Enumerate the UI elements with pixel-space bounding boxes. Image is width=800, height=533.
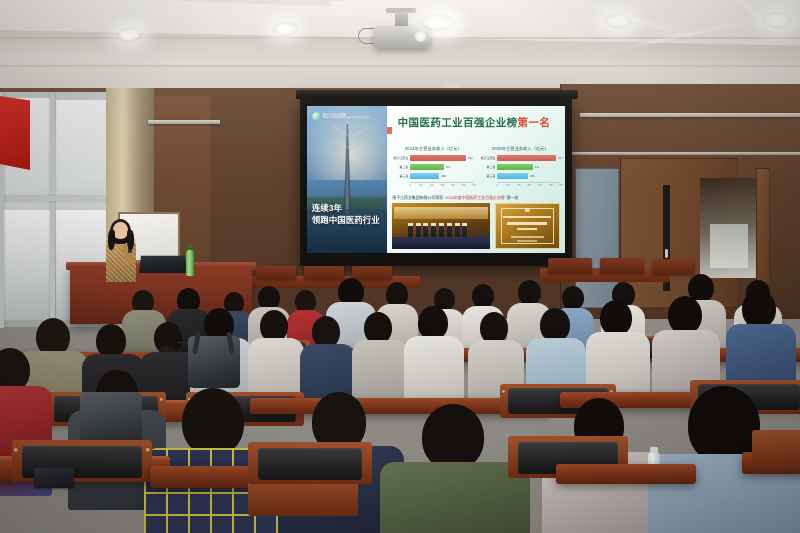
bar-fill	[410, 155, 466, 162]
bar-label: 第二名	[392, 165, 410, 169]
chart-2015-title: 2015年主营业务收入（亿元）	[479, 146, 561, 152]
slide-title: 中国医药工业百强企业榜第一名	[398, 115, 551, 130]
projector-lamp-glow	[420, 14, 454, 31]
axis-tick: 500	[462, 184, 466, 187]
door-handle[interactable]	[665, 249, 668, 258]
plaque-text-line	[517, 228, 537, 230]
lecture-hall-photo: 扬子江药业集团 YANGTZE RIVER PHARMACEUTICAL GRO…	[0, 0, 800, 533]
logo-mark-icon	[312, 112, 321, 121]
front-chair	[548, 258, 592, 274]
head	[96, 324, 126, 358]
bar-track: 310	[410, 164, 474, 171]
ceremony-person	[408, 223, 413, 237]
slide-title-main: 中国医药工业百强企业榜	[398, 117, 518, 129]
ceremony-person	[455, 223, 460, 237]
bar-value: 577	[556, 155, 563, 162]
slide-right-content-panel: 中国医药工业百强企业榜第一名 2014年主营业务收入（亿元） 扬子江药业 522	[387, 106, 565, 253]
slide-title-highlight: 第一名	[518, 117, 551, 129]
bar-track: 331	[497, 164, 561, 171]
wall-trim	[560, 152, 800, 155]
chart-2015-axis: 0 100 200 300 400 500 600	[497, 182, 561, 188]
bar-value: 268	[439, 173, 446, 180]
logo-text: 扬子江药业集团 YANGTZE RIVER PHARMACEUTICAL GRO…	[323, 113, 370, 119]
bar-label: 扬子江药业	[392, 156, 410, 160]
red-flag	[0, 96, 30, 170]
slide-award-banner: 扬子江药业集团有限公司荣获 “2016年度中国医药工业百强企业榜” 第一名	[392, 195, 559, 201]
rail-hook	[676, 119, 678, 126]
window-mullion	[50, 92, 55, 328]
slide-photo-strip	[392, 203, 559, 249]
axis-tick: 200	[430, 184, 434, 187]
front-chair	[304, 266, 344, 280]
chart-2014-body: 扬子江药业 522 第二名 310	[392, 155, 474, 188]
banner-quoted: “2016年度中国医药工业百强企业榜”	[444, 195, 506, 200]
caption-line-1: 连续3年	[312, 202, 380, 214]
slide-accent-mark	[387, 127, 392, 134]
bar-label: 扬子江药业	[479, 156, 497, 160]
front-chair	[352, 266, 392, 280]
bar-fill	[410, 173, 439, 180]
door-window-opening	[700, 178, 756, 278]
chart-2014-title: 2014年主营业务收入（亿元）	[392, 146, 474, 152]
tablet-device[interactable]	[34, 468, 74, 488]
chart-2015-body: 扬子江药业 577 第二名 331	[479, 155, 561, 188]
bar-value: 331	[533, 164, 540, 171]
ceremony-person	[431, 223, 436, 237]
seat-rivet	[146, 448, 150, 452]
axis-tick: 0	[497, 184, 498, 187]
presentation-slide: 扬子江药业集团 YANGTZE RIVER PHARMACEUTICAL GRO…	[307, 106, 565, 253]
curtain-rail	[580, 113, 800, 117]
chart-2014-axis: 0 100 200 300 400 500 600	[410, 182, 474, 188]
axis-tick: 100	[419, 184, 423, 187]
torso	[248, 338, 304, 400]
ceremony-stage-floor	[392, 237, 489, 249]
ceiling-projector	[374, 26, 430, 48]
rail-hook	[752, 121, 754, 128]
plaque-border	[501, 208, 554, 245]
window-pane	[4, 210, 50, 320]
seat-rivet	[160, 398, 163, 401]
window-pane	[56, 100, 106, 194]
axis-tick: 0	[410, 184, 411, 187]
caption-line-2: 领跑中国医药行业	[312, 214, 380, 226]
bar-row: 第二名 331	[479, 164, 561, 171]
front-chair	[256, 266, 296, 280]
axis-tick: 200	[517, 184, 521, 187]
bar-label: 第三名	[479, 174, 497, 178]
presenter-hair-side	[108, 230, 115, 250]
bar-row: 第二名 310	[392, 164, 474, 171]
ceremony-person	[423, 223, 428, 237]
bar-fill	[497, 173, 528, 180]
axis-tick: 300	[527, 184, 531, 187]
torso	[352, 340, 408, 402]
window-mullion	[0, 196, 112, 201]
slide-charts-container: 2014年主营业务收入（亿元） 扬子江药业 522 第二名	[392, 146, 561, 188]
bar-value: 286	[528, 173, 535, 180]
bar-track: 522	[410, 155, 474, 162]
rail-hook	[714, 120, 716, 127]
head	[182, 388, 244, 456]
bar-track: 577	[497, 155, 561, 162]
award-ceremony-photo	[392, 203, 489, 249]
bar-fill	[410, 164, 443, 171]
seat-rivet	[14, 448, 18, 452]
plaque-text-line	[503, 216, 551, 218]
bar-row: 扬子江药业 522	[392, 155, 474, 162]
plaque-text-line	[507, 222, 547, 225]
ceremony-person	[416, 223, 421, 237]
torso	[404, 336, 464, 402]
bar-value: 310	[444, 164, 451, 171]
banner-prefix: 扬子江药业集团有限公司荣获	[392, 195, 443, 200]
bar-value: 522	[466, 155, 473, 162]
rail-hook	[640, 118, 642, 125]
bar-row: 扬子江药业 577	[479, 155, 561, 162]
desk-row-near	[556, 464, 696, 484]
chart-2015: 2015年主营业务收入（亿元） 扬子江药业 577 第二名	[479, 146, 561, 188]
award-plaque-photo	[495, 203, 560, 249]
ceiling-edge-line	[0, 65, 800, 67]
presenter-head	[113, 222, 128, 239]
axis-tick: 100	[506, 184, 510, 187]
head	[422, 404, 484, 470]
axis-tick: 600	[559, 184, 563, 187]
projection-screen: 扬子江药业集团 YANGTZE RIVER PHARMACEUTICAL GRO…	[300, 98, 572, 266]
seat-rivet	[502, 390, 505, 393]
seat-back	[258, 448, 362, 480]
front-chair	[652, 259, 694, 275]
plaque-text-line	[511, 236, 544, 238]
banner-suffix: 第一名	[507, 195, 519, 200]
bar-track: 268	[410, 173, 474, 180]
bar-label: 第三名	[392, 174, 410, 178]
rail-hook	[604, 117, 606, 124]
slide-left-photo-panel: 扬子江药业集团 YANGTZE RIVER PHARMACEUTICAL GRO…	[307, 106, 387, 253]
ceiling-downlight	[272, 22, 298, 36]
presenter	[104, 222, 138, 280]
slide-left-caption: 连续3年 领跑中国医药行业	[312, 202, 380, 227]
bar-row: 第三名 286	[479, 173, 561, 180]
seat-frame	[752, 430, 800, 470]
ceremony-person	[447, 223, 452, 237]
presenter-hair-side	[127, 230, 134, 250]
bar-track: 286	[497, 173, 561, 180]
axis-tick: 600	[472, 184, 476, 187]
ceiling-downlight	[116, 28, 142, 42]
green-bottle	[186, 250, 194, 276]
ceremony-backdrop	[394, 207, 488, 219]
axis-tick: 300	[440, 184, 444, 187]
plaque-text-line	[517, 240, 537, 242]
axis-tick: 500	[549, 184, 553, 187]
slide-company-logo: 扬子江药业集团 YANGTZE RIVER PHARMACEUTICAL GRO…	[312, 112, 370, 121]
bar-fill	[497, 155, 556, 162]
bar-label: 第二名	[479, 165, 497, 169]
podium-laptop	[139, 256, 187, 273]
bar-fill	[497, 164, 532, 171]
ceremony-person	[462, 223, 467, 237]
axis-tick: 400	[538, 184, 542, 187]
wall-screen-panel	[575, 168, 619, 308]
front-chair	[600, 258, 644, 274]
door-glass-pane	[710, 224, 748, 268]
curtain-rail	[148, 120, 220, 124]
bar-row: 第三名 268	[392, 173, 474, 180]
ceremony-person	[439, 223, 444, 237]
chart-2014: 2014年主营业务收入（亿元） 扬子江药业 522 第二名	[392, 146, 474, 188]
axis-tick: 400	[451, 184, 455, 187]
logo-text-en: YANGTZE RIVER PHARMACEUTICAL GROUP	[323, 117, 370, 119]
